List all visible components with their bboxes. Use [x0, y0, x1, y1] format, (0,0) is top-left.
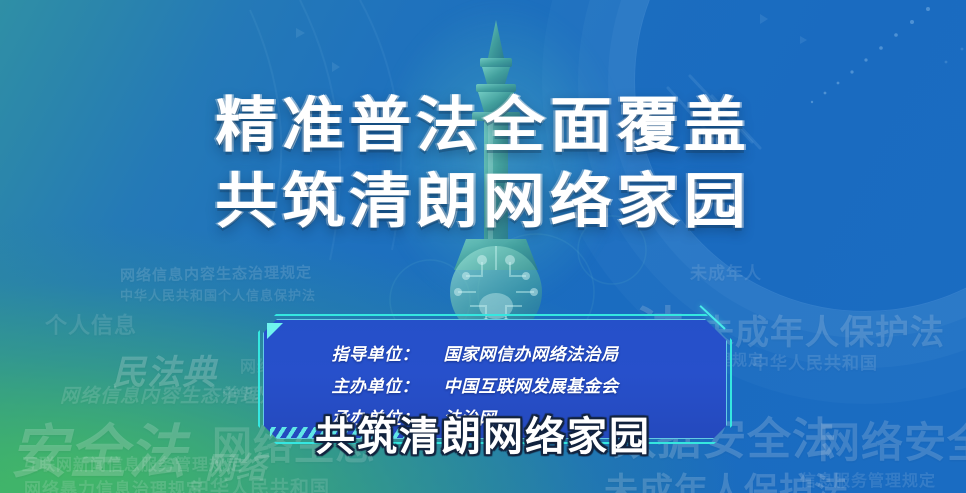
organizer-row-host: 主办单位： 中国互联网发展基金会	[258, 372, 732, 404]
organizer-value: 国家网信办网络法治局	[444, 340, 659, 365]
poster-title: 精准普法全面覆盖 共筑清朗网络家园	[0, 88, 966, 240]
title-line-1: 精准普法全面覆盖	[0, 88, 966, 164]
poster-canvas: 网络信息内容生态治理规定 未成年人 中华人民共和国个人信息保护法 个人信息 民法…	[0, 0, 966, 493]
organizer-label: 主办单位：	[332, 372, 444, 397]
organizer-row-guidance: 指导单位： 国家网信办网络法治局	[258, 340, 732, 372]
overlay-caption: 共筑清朗网络家园	[0, 417, 966, 457]
title-line-2: 共筑清朗网络家园	[0, 164, 966, 240]
organizer-label: 指导单位：	[332, 340, 444, 365]
organizer-value: 中国互联网发展基金会	[444, 372, 659, 397]
